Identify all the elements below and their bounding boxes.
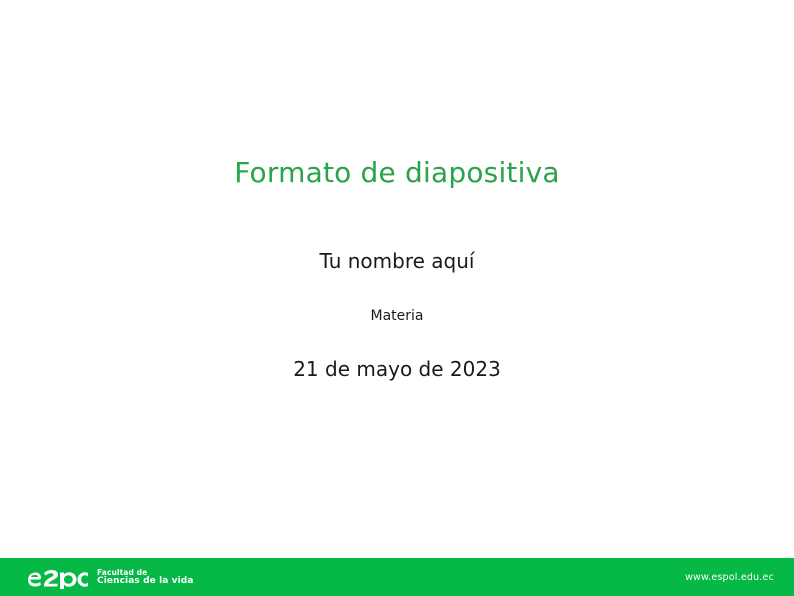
footer-bar: Facultad de Ciencias de la vida www.espo… — [0, 558, 794, 596]
footer-branding: Facultad de Ciencias de la vida — [26, 558, 194, 596]
presentation-date: 21 de mayo de 2023 — [0, 357, 794, 381]
faculty-label: Facultad de Ciencias de la vida — [97, 568, 194, 587]
espol-logo-icon — [26, 565, 88, 589]
subject-name: Materia — [0, 307, 794, 325]
author-name: Tu nombre aquí — [0, 249, 794, 273]
footer-website-url: www.espol.edu.ec — [685, 558, 774, 596]
faculty-label-line2: Ciencias de la vida — [97, 577, 194, 587]
page-title: Formato de diapositiva — [0, 156, 794, 190]
title-slide: Formato de diapositiva Tu nombre aquí Ma… — [0, 0, 794, 596]
